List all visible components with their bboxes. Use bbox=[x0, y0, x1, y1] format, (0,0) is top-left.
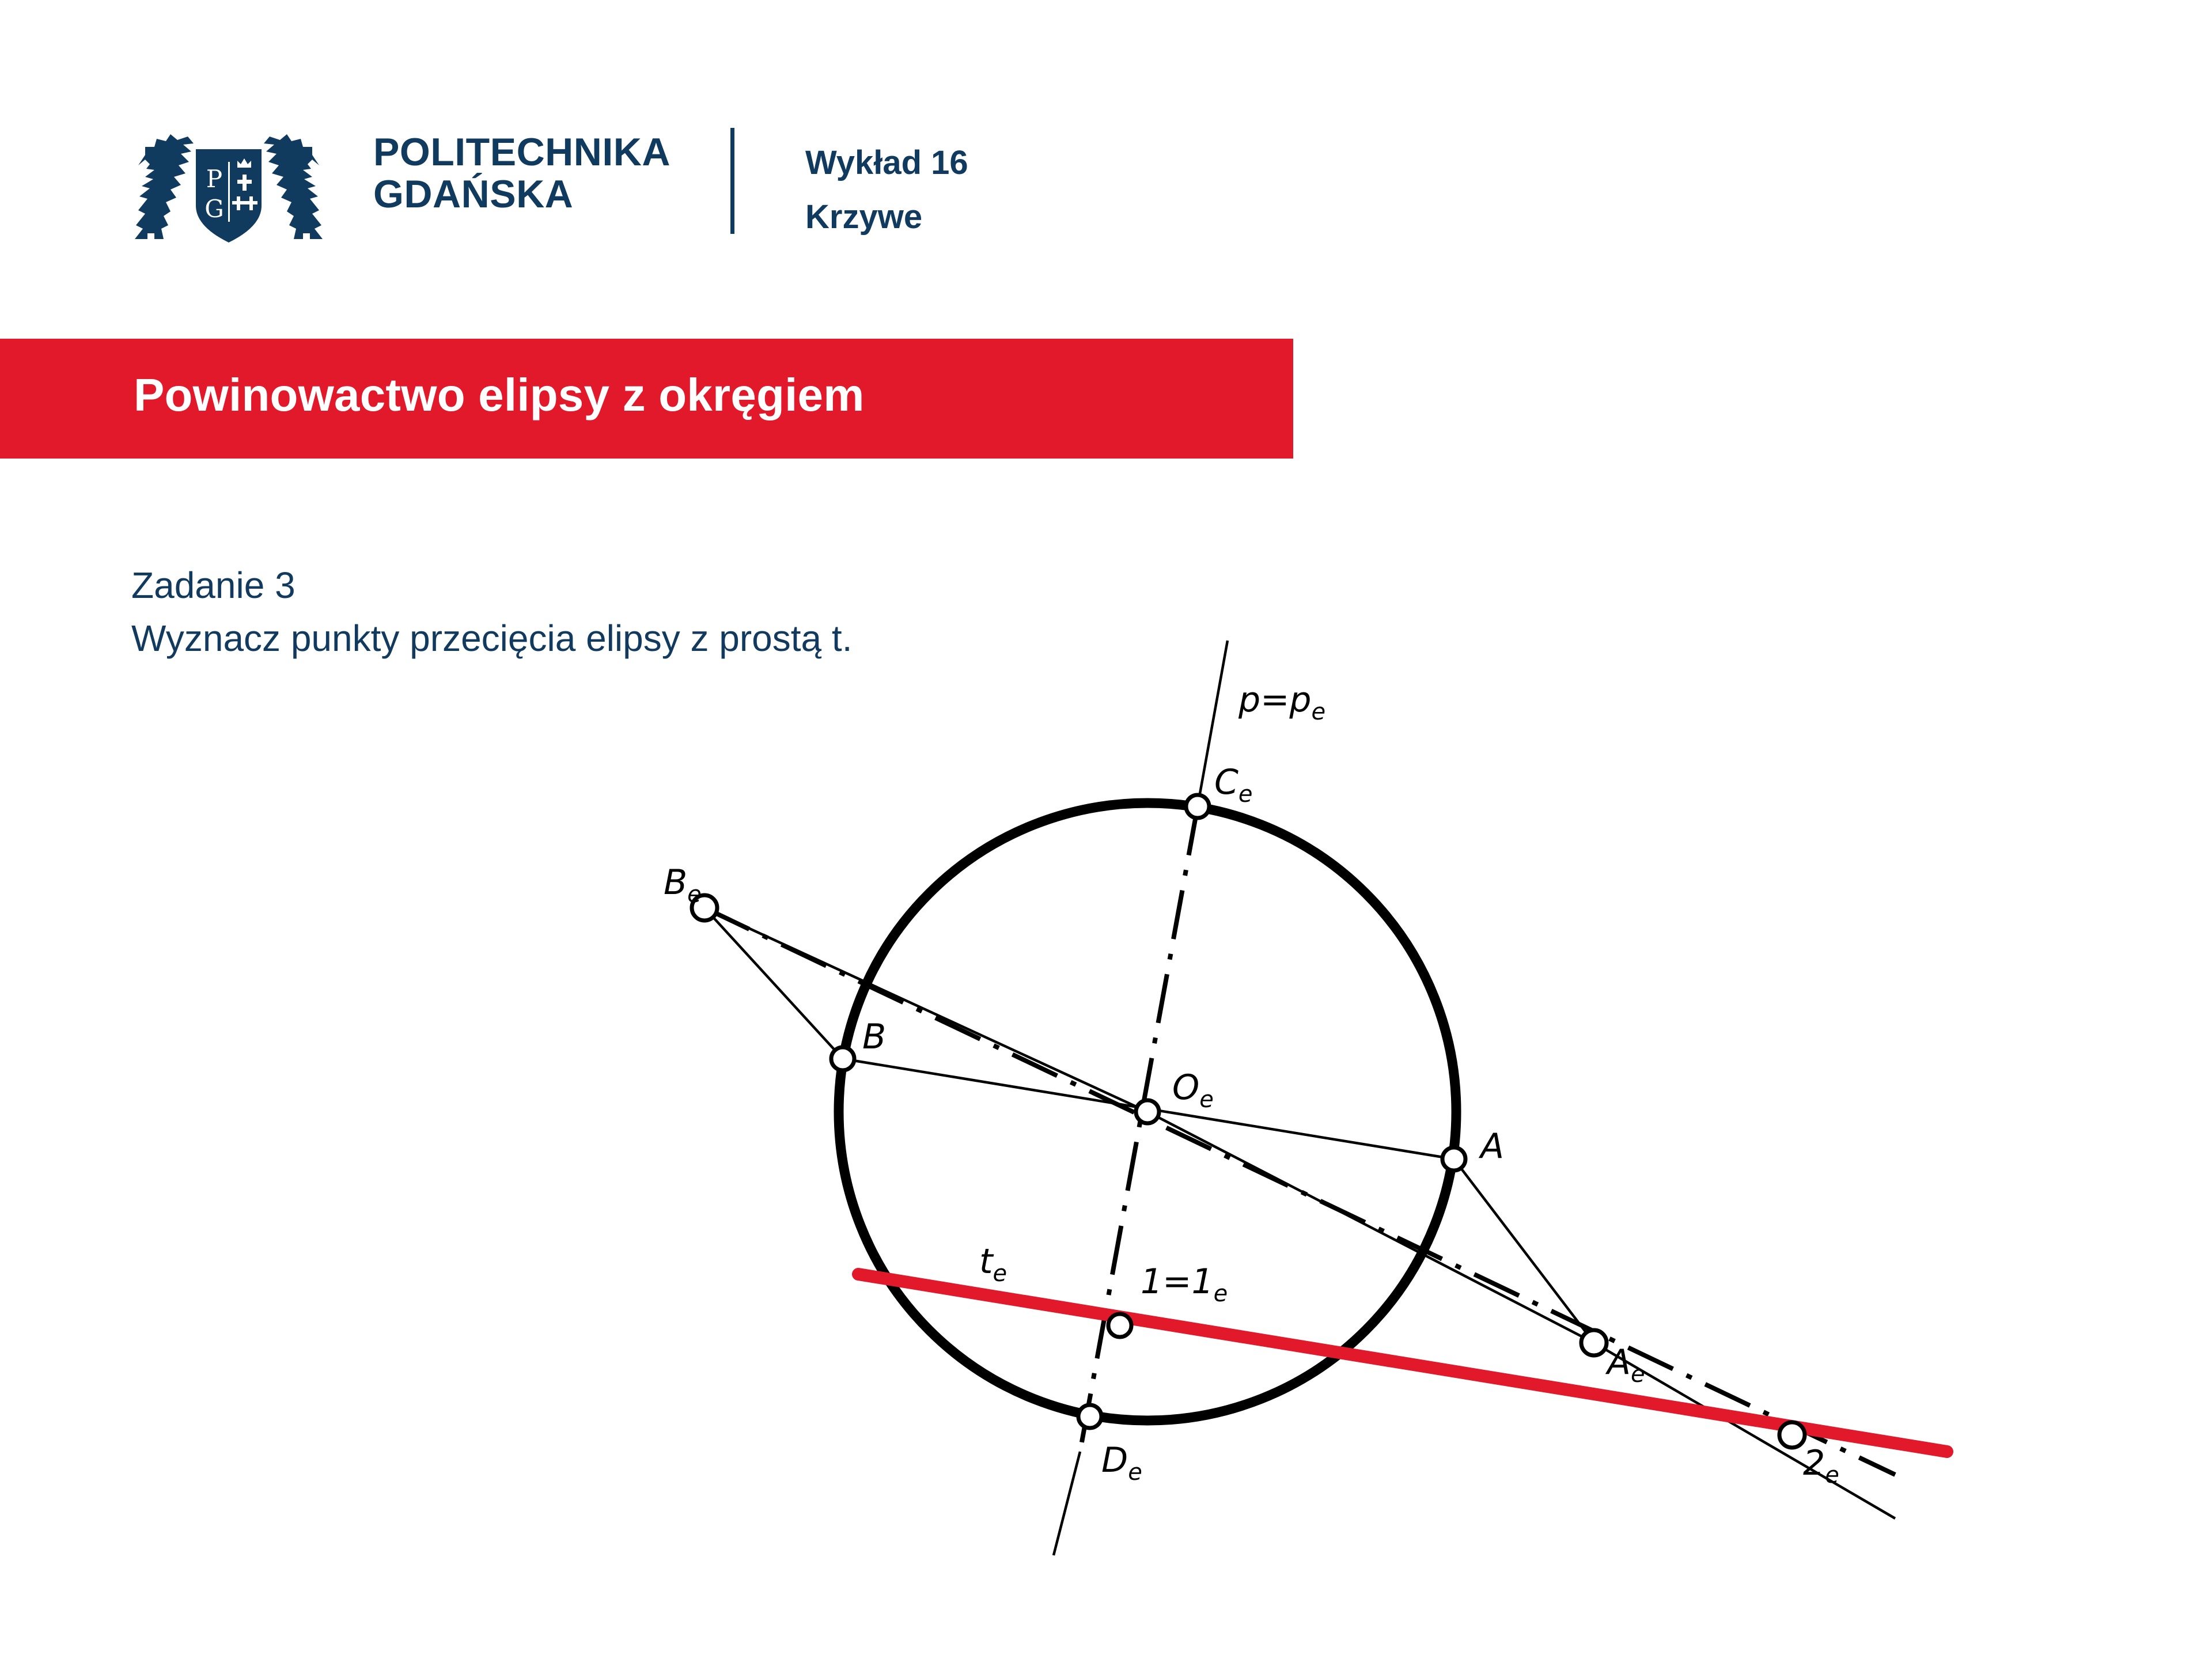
label-a: A bbox=[1478, 1126, 1504, 1166]
line-te-red bbox=[858, 1274, 1947, 1452]
brand-title: POLITECHNIKA GDAŃSKA bbox=[373, 131, 671, 216]
label-1-1e: 1=1e bbox=[1141, 1262, 1228, 1307]
point-1-1e bbox=[1108, 1314, 1131, 1337]
point-de bbox=[1078, 1405, 1101, 1428]
construction-line-be-b bbox=[704, 908, 843, 1059]
point-ae bbox=[1581, 1330, 1607, 1355]
politechnika-gdanska-crest-icon: P G bbox=[128, 124, 329, 256]
header-divider bbox=[730, 128, 734, 234]
p-axis-upper-extension bbox=[1198, 641, 1228, 806]
brand-line-2: GDAŃSKA bbox=[373, 173, 671, 215]
point-be bbox=[692, 895, 717, 921]
construction-line-a-ae bbox=[1454, 1159, 1594, 1343]
svg-text:G: G bbox=[204, 195, 224, 223]
point-a bbox=[1442, 1147, 1465, 1171]
label-be: Be bbox=[664, 862, 702, 908]
label-ce: Ce bbox=[1214, 762, 1253, 808]
label-de: De bbox=[1101, 1440, 1142, 1486]
construction-line-be-oe bbox=[704, 908, 1147, 1112]
base-circle bbox=[839, 803, 1456, 1421]
svg-text:P: P bbox=[206, 165, 222, 193]
point-2e bbox=[1779, 1422, 1805, 1448]
page-title: Powinowactwo elipsy z okręgiem bbox=[134, 369, 865, 422]
task-heading: Zadanie 3 bbox=[131, 559, 852, 612]
construction-line-oe-ae bbox=[1147, 1112, 1594, 1343]
p-axis-lower-extension bbox=[1054, 1452, 1080, 1555]
p-axis-dashdot bbox=[1080, 806, 1198, 1452]
point-b bbox=[831, 1047, 854, 1070]
label-2e: 2e bbox=[1803, 1443, 1839, 1488]
task-description: Zadanie 3 Wyznacz punkty przecięcia elip… bbox=[131, 559, 852, 665]
brand-line-1: POLITECHNIKA bbox=[373, 131, 671, 173]
construction-line-b-oe-a bbox=[843, 1059, 1454, 1159]
label-oe: Oe bbox=[1172, 1067, 1214, 1113]
slide-header: P G POLITECHNIKA GDAŃSKA Wykład 16 Krzyw… bbox=[0, 0, 2212, 288]
task-instruction: Wyznacz punkty przecięcia elipsy z prost… bbox=[131, 612, 852, 665]
label-p-axis: p=pe bbox=[1238, 680, 1325, 725]
point-ce bbox=[1186, 795, 1209, 818]
label-ae: Ae bbox=[1605, 1342, 1645, 1388]
point-oe bbox=[1136, 1100, 1159, 1123]
lecture-number: Wykład 16 bbox=[805, 136, 968, 190]
construction-line-oe-2e bbox=[1594, 1343, 1895, 1518]
crest-svg: P G bbox=[128, 124, 329, 256]
affinity-axis-line bbox=[704, 908, 1895, 1475]
label-te: te bbox=[979, 1241, 1007, 1287]
lecture-info: Wykład 16 Krzywe bbox=[805, 136, 968, 244]
label-b: B bbox=[862, 1017, 886, 1057]
lecture-topic: Krzywe bbox=[805, 190, 968, 244]
